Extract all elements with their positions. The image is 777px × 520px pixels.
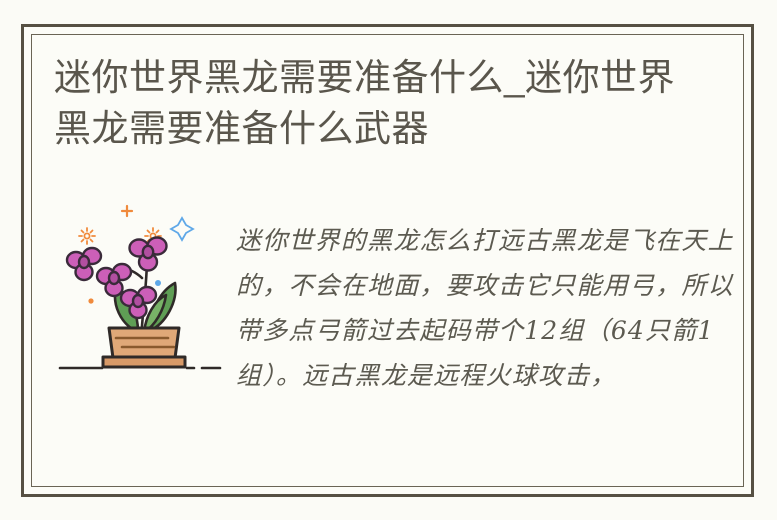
sparkle-orange-burst-icon-left	[79, 228, 95, 244]
article-card-page: 迷你世界黑龙需要准备什么_迷你世界黑龙需要准备什么武器	[0, 0, 777, 520]
potted-orchid-illustration	[54, 200, 222, 375]
article-body-text: 迷你世界的黑龙怎么打远古黑龙是飞在天上的，不会在地面，要攻击它只能用弓，所以带多…	[236, 218, 737, 398]
sparkle-blue-dot	[155, 280, 161, 286]
sparkle-orange-dot-left	[88, 298, 93, 303]
sparkle-orange-plus-icon	[122, 206, 132, 216]
orchid-illustration-svg	[54, 200, 222, 375]
sparkle-blue-burst-icon	[171, 218, 193, 240]
orchid-flower-4	[130, 238, 167, 271]
page-title: 迷你世界黑龙需要准备什么_迷你世界黑龙需要准备什么武器	[54, 52, 694, 154]
article-content-row: 迷你世界的黑龙怎么打远古黑龙是飞在天上的，不会在地面，要攻击它只能用弓，所以带多…	[54, 200, 737, 398]
